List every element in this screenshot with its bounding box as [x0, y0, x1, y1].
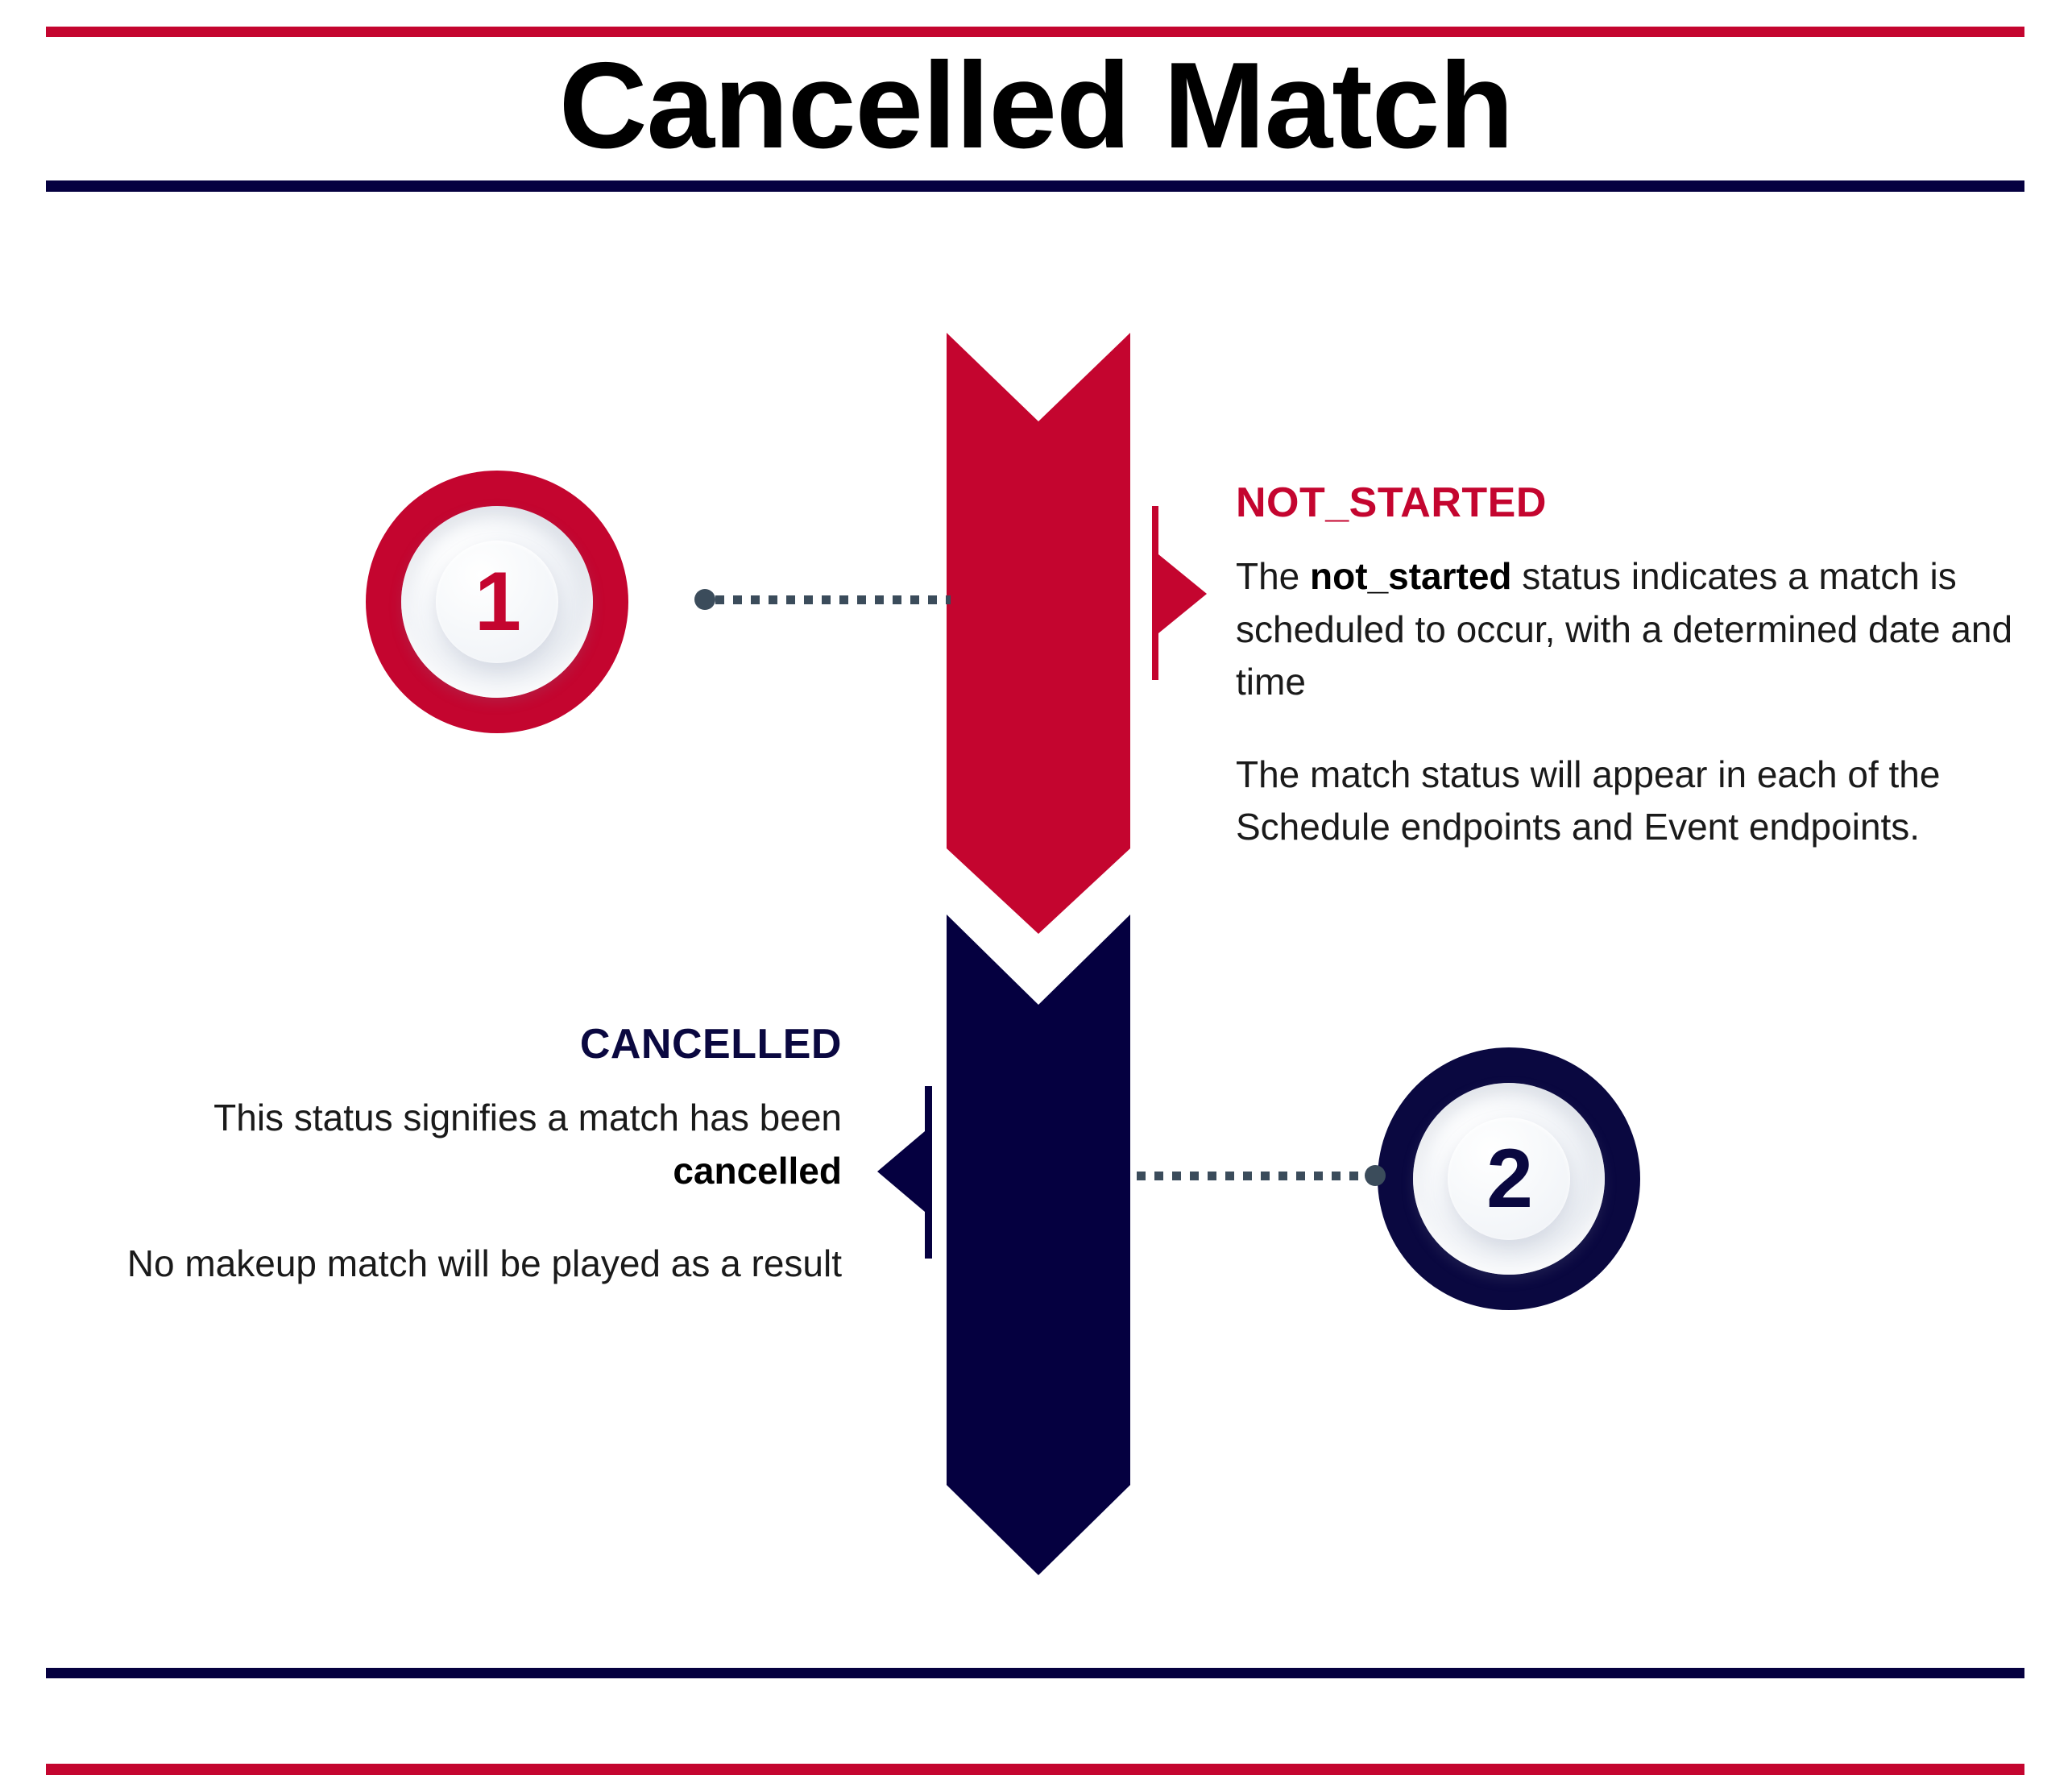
step-1-heading: NOT_STARTED [1236, 480, 2049, 526]
bottom-navy-rule [46, 1668, 2024, 1678]
step-1-paragraph-1: The not_started status indicates a match… [1236, 550, 2049, 708]
step-badge-2-inner: 2 [1413, 1083, 1605, 1275]
step-1-p2-before: The match status will appear in each of … [1236, 753, 1940, 848]
step-2-paragraph-2: No makeup match will be played as a resu… [89, 1238, 842, 1290]
step-badge-2[interactable]: 2 [1378, 1047, 1640, 1310]
step-1-text-block: NOT_STARTED The not_started status indic… [1236, 480, 2049, 854]
step-badge-1[interactable]: 1 [366, 471, 628, 733]
step-badge-1-number: 1 [474, 560, 520, 644]
step-2-text-block: CANCELLED This status signifies a match … [89, 1022, 842, 1290]
step-1-p1-before: The [1236, 555, 1310, 597]
connector-dot-1-icon [694, 589, 715, 610]
step-badge-2-core: 2 [1448, 1118, 1570, 1240]
step-1-paragraph-2: The match status will appear in each of … [1236, 749, 2049, 854]
step-2-p1-bold: cancelled [673, 1150, 842, 1192]
step-badge-1-inner: 1 [401, 506, 593, 698]
connector-line-2 [1128, 1167, 1386, 1184]
connector-dashes-1 [715, 595, 951, 604]
infographic-canvas: Cancelled Match 1 [0, 0, 2072, 1775]
step-1-p1-bold: not_started [1310, 555, 1511, 597]
navy-chevron-ribbon [947, 914, 1130, 1575]
connector-dot-2-icon [1365, 1165, 1386, 1186]
step-2-paragraph-1: This status signifies a match has been c… [89, 1092, 842, 1197]
right-pointer-marker-icon [1152, 506, 1208, 680]
step-2-p2-before: No makeup match will be played as a resu… [127, 1242, 842, 1284]
connector-line-1 [694, 591, 951, 608]
bottom-red-rule [46, 1764, 2024, 1775]
step-badge-1-core: 1 [436, 541, 558, 663]
step-2-heading: CANCELLED [89, 1022, 842, 1068]
red-chevron-ribbon [947, 333, 1130, 934]
step-badge-2-number: 2 [1486, 1137, 1531, 1221]
step-2-p1-before: This status signifies a match has been [213, 1097, 842, 1138]
top-navy-rule [46, 180, 2024, 192]
left-pointer-marker-icon [876, 1086, 933, 1259]
page-title: Cancelled Match [0, 35, 2072, 176]
connector-dashes-2 [1128, 1172, 1365, 1180]
